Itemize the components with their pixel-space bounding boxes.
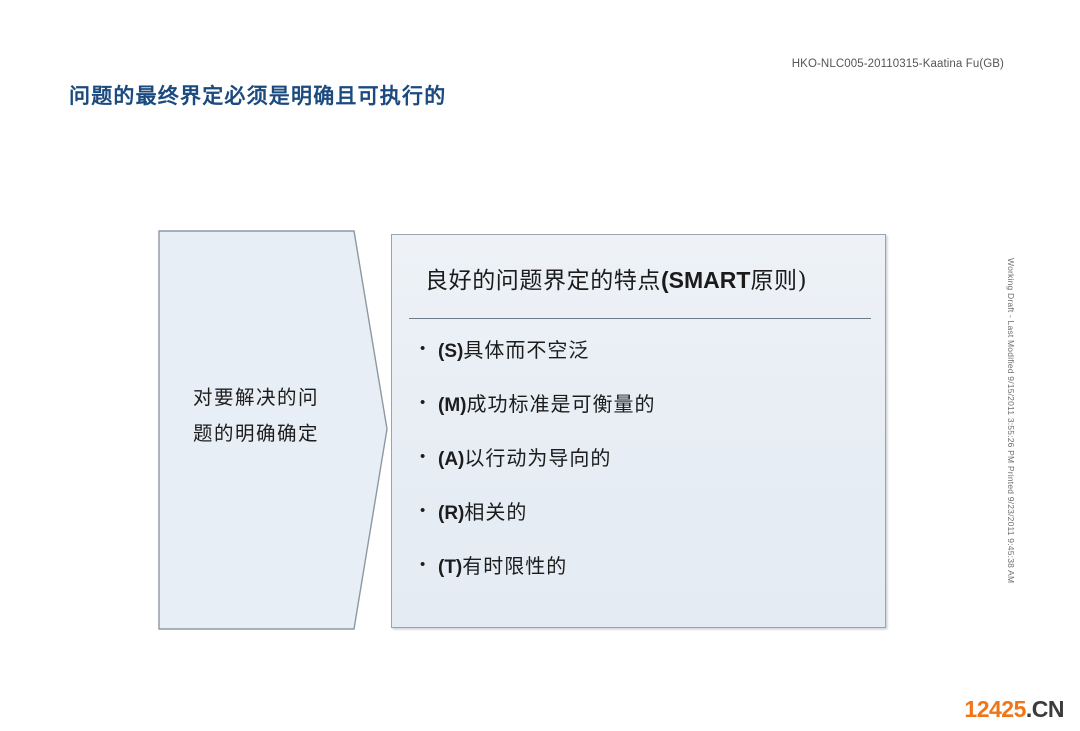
side-note-text: Working Draft - Last Modified 9/15/2011 … <box>1006 258 1016 583</box>
bullet-text: 有时限性的 <box>462 554 567 578</box>
bullet-tag: (M) <box>438 395 466 416</box>
list-item: (M)成功标准是可衡量的 <box>418 392 868 418</box>
list-item: (T)有时限性的 <box>418 554 868 580</box>
panel-divider <box>409 318 871 319</box>
bullet-tag: (T) <box>438 557 462 578</box>
chevron-label-line-1: 对要解决的问 <box>158 380 354 416</box>
panel-heading: 良好的问题界定的特点(SMART原则) <box>425 261 807 295</box>
document-code-header: HKO-NLC005-20110315-Kaatina Fu(GB) <box>792 58 1004 70</box>
bullet-tag: (S) <box>438 341 463 362</box>
list-item: (S)具体而不空泛 <box>418 338 868 364</box>
bullet-tag: (A) <box>438 449 464 470</box>
smart-panel: 良好的问题界定的特点(SMART原则) (S)具体而不空泛 (M)成功标准是可衡… <box>391 234 886 628</box>
list-item: (R)相关的 <box>418 500 868 526</box>
watermark-logo: 12425.CN <box>964 698 1064 721</box>
bullet-text: 以行动为导向的 <box>464 446 611 470</box>
chevron-label: 对要解决的问 题的明确确定 <box>158 380 354 452</box>
bullet-text: 成功标准是可衡量的 <box>466 392 655 416</box>
side-note: Working Draft - Last Modified 9/15/2011 … <box>1004 258 1018 578</box>
panel-heading-latin: (SMART <box>661 267 750 293</box>
list-item: (A)以行动为导向的 <box>418 446 868 472</box>
page-title: 问题的最终界定必须是明确且可执行的 <box>69 80 446 110</box>
chevron-label-line-2: 题的明确确定 <box>158 416 354 452</box>
watermark-tld: .CN <box>1026 696 1064 722</box>
bullet-tag: (R) <box>438 503 464 524</box>
bullet-text: 具体而不空泛 <box>463 338 589 362</box>
smart-bullet-list: (S)具体而不空泛 (M)成功标准是可衡量的 (A)以行动为导向的 (R)相关的… <box>418 338 868 580</box>
panel-heading-cn-suffix: 原则) <box>750 268 807 294</box>
bullet-text: 相关的 <box>464 500 527 524</box>
slide-canvas: HKO-NLC005-20110315-Kaatina Fu(GB) 问题的最终… <box>0 0 1080 731</box>
watermark-number: 12425 <box>964 696 1025 722</box>
chevron-shape: 对要解决的问 题的明确确定 <box>158 230 388 630</box>
panel-heading-cn-prefix: 良好的问题界定的特点 <box>425 268 661 294</box>
